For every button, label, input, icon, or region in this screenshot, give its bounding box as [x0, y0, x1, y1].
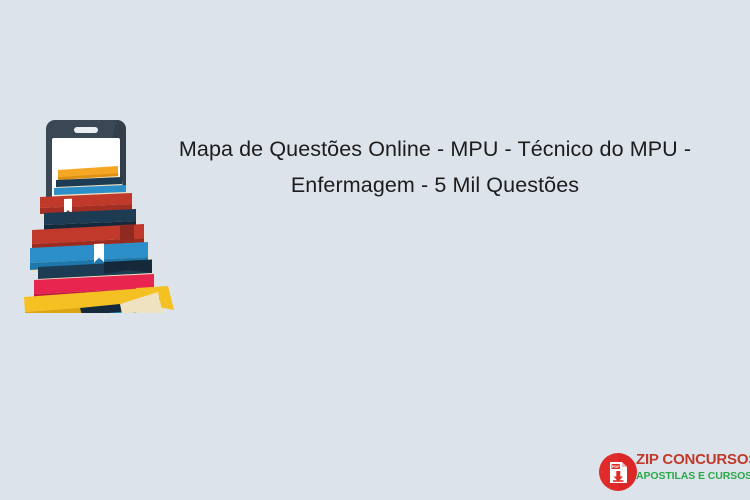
brand-logo[interactable]: PDF ZIP CONCURSOS APOSTILAS E CURSOS [598, 450, 740, 492]
page-title-line-2: Enfermagem - 5 Mil Questões [150, 167, 720, 203]
page-title-line-1: Mapa de Questões Online - MPU - Técnico … [150, 131, 720, 167]
brand-name: ZIP CONCURSOS [636, 450, 740, 469]
brand-tagline: APOSTILAS E CURSOS [636, 469, 740, 484]
svg-text:PDF: PDF [612, 464, 621, 469]
page-title: Mapa de Questões Online - MPU - Técnico … [150, 131, 720, 203]
brand-logo-text: ZIP CONCURSOS APOSTILAS E CURSOS [636, 450, 740, 484]
promo-banner: Mapa de Questões Online - MPU - Técnico … [0, 0, 750, 500]
pdf-download-icon: PDF [598, 452, 638, 492]
